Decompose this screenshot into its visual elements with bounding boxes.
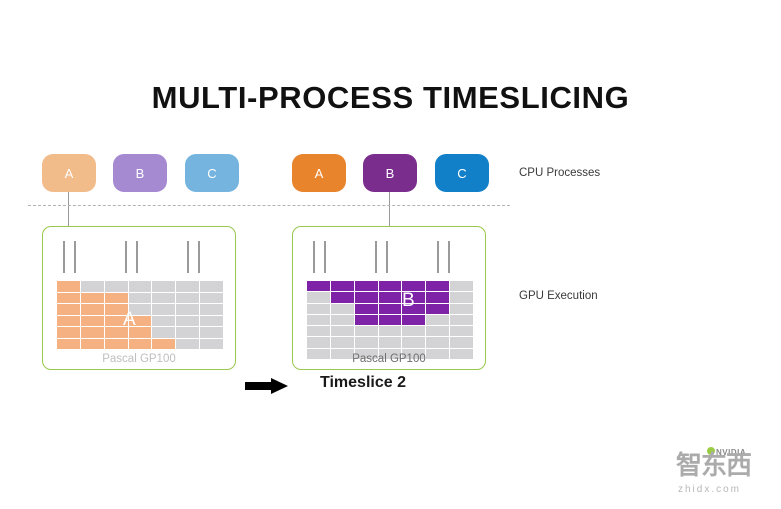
gpu-cell: [152, 304, 175, 315]
gpu-cell: [105, 327, 128, 338]
cpu-process-c-slice2[interactable]: C: [435, 154, 489, 192]
gpu-cell: [176, 327, 199, 338]
gpu-cell: [129, 293, 152, 304]
gpu-cell: [426, 304, 449, 314]
gpu-cell: [379, 326, 402, 336]
tick-mark: [136, 241, 138, 273]
tick-mark: [125, 241, 127, 273]
gpu-cell: [402, 304, 425, 314]
gpu-cell: [105, 304, 128, 315]
gpu-cell: [307, 304, 330, 314]
gpu-cell: [176, 304, 199, 315]
gpu-caption-right: Pascal GP100: [293, 353, 485, 365]
tick-mark: [198, 241, 200, 273]
gpu-cell: [379, 292, 402, 302]
gpu-cell: [402, 337, 425, 347]
section-divider: [28, 205, 510, 206]
cpu-process-label: A: [65, 166, 74, 181]
gpu-cell: [152, 316, 175, 327]
gpu-cell: [355, 326, 378, 336]
gpu-tick-marks-left: [43, 241, 235, 273]
gpu-cell: [379, 337, 402, 347]
gpu-cell: [450, 337, 473, 347]
gpu-cell: [402, 292, 425, 302]
gpu-cell: [331, 292, 354, 302]
gpu-cell: [81, 327, 104, 338]
gpu-cell: [402, 315, 425, 325]
gpu-cell: [57, 293, 80, 304]
gpu-cell: [426, 292, 449, 302]
gpu-cell: [450, 315, 473, 325]
gpu-cell: [426, 281, 449, 291]
gpu-cell: [307, 315, 330, 325]
gpu-cell: [200, 339, 223, 350]
gpu-cell: [152, 339, 175, 350]
tick-mark: [324, 241, 326, 273]
cpu-process-label: C: [207, 166, 216, 181]
slide-canvas: MULTI-PROCESS TIMESLICING A B C A B C A: [0, 0, 781, 509]
gpu-cell: [57, 316, 80, 327]
gpu-cell: [331, 304, 354, 314]
gpu-cell: [402, 281, 425, 291]
gpu-cell: [402, 326, 425, 336]
gpu-cell: [81, 339, 104, 350]
gpu-cell: [152, 327, 175, 338]
gpu-cell: [129, 281, 152, 292]
cpu-process-a-slice1[interactable]: A: [42, 154, 96, 192]
watermark-url: zhidx.com: [678, 484, 770, 495]
tick-mark: [63, 241, 65, 273]
gpu-cell: [450, 292, 473, 302]
gpu-cell: [129, 327, 152, 338]
cpu-process-a-slice2[interactable]: A: [292, 154, 346, 192]
gpu-cell: [307, 281, 330, 291]
gpu-caption-left: Pascal GP100: [43, 353, 235, 365]
cpu-process-label: A: [315, 166, 324, 181]
gpu-cell: [152, 281, 175, 292]
tick-mark: [313, 241, 315, 273]
gpu-cell: [176, 293, 199, 304]
gpu-cell: [105, 339, 128, 350]
gpu-sm-grid-right: [307, 281, 473, 359]
label-cpu-processes: CPU Processes: [519, 167, 600, 179]
gpu-cell: [426, 326, 449, 336]
tick-mark: [437, 241, 439, 273]
gpu-cell: [200, 316, 223, 327]
cpu-process-b-slice2[interactable]: B: [363, 154, 417, 192]
gpu-cell: [105, 281, 128, 292]
page-title: MULTI-PROCESS TIMESLICING: [0, 80, 781, 116]
gpu-cell: [379, 281, 402, 291]
gpu-cell: [200, 327, 223, 338]
gpu-cell: [105, 293, 128, 304]
gpu-cell: [200, 304, 223, 315]
gpu-cell: [426, 337, 449, 347]
gpu-cell: [307, 292, 330, 302]
cpu-process-b-slice1[interactable]: B: [113, 154, 167, 192]
gpu-cell: [81, 316, 104, 327]
gpu-cell: [129, 304, 152, 315]
gpu-cell: [355, 281, 378, 291]
gpu-cell: [152, 293, 175, 304]
gpu-cell: [355, 292, 378, 302]
gpu-cell: [200, 281, 223, 292]
gpu-cell: [105, 316, 128, 327]
gpu-cell: [57, 281, 80, 292]
watermark-cn-text: 智东西: [676, 452, 762, 478]
gpu-cell: [176, 281, 199, 292]
timeslice-arrow-icon: [245, 378, 289, 394]
label-gpu-execution: GPU Execution: [519, 290, 598, 302]
gpu-cell: [450, 304, 473, 314]
tick-mark: [375, 241, 377, 273]
gpu-cell: [81, 281, 104, 292]
tick-mark: [448, 241, 450, 273]
tick-mark: [187, 241, 189, 273]
gpu-tick-marks-right: [293, 241, 485, 273]
gpu-cell: [57, 339, 80, 350]
gpu-cell: [176, 339, 199, 350]
gpu-cell: [176, 316, 199, 327]
cpu-process-label: B: [136, 166, 145, 181]
watermark: NVIDIA 智东西 zhidx.com: [676, 444, 772, 502]
gpu-cell: [331, 315, 354, 325]
gpu-cell: [355, 337, 378, 347]
cpu-process-label: B: [386, 166, 395, 181]
gpu-cell: [331, 337, 354, 347]
gpu-panel-left: A Pascal GP100: [42, 226, 236, 370]
gpu-cell: [331, 281, 354, 291]
gpu-cell: [81, 293, 104, 304]
gpu-cell: [200, 293, 223, 304]
gpu-cell: [129, 339, 152, 350]
gpu-cell: [57, 327, 80, 338]
gpu-cell: [57, 304, 80, 315]
gpu-cell: [307, 337, 330, 347]
tick-mark: [386, 241, 388, 273]
gpu-cell: [450, 326, 473, 336]
gpu-cell: [307, 326, 330, 336]
gpu-cell: [81, 304, 104, 315]
cpu-process-c-slice1[interactable]: C: [185, 154, 239, 192]
gpu-cell: [379, 315, 402, 325]
gpu-cell: [379, 304, 402, 314]
cpu-process-label: C: [457, 166, 466, 181]
timeslice-label: Timeslice 2: [320, 374, 520, 392]
gpu-cell: [355, 315, 378, 325]
gpu-cell: [355, 304, 378, 314]
gpu-cell: [331, 326, 354, 336]
gpu-cell: [129, 316, 152, 327]
gpu-cell: [426, 315, 449, 325]
tick-mark: [74, 241, 76, 273]
gpu-cell: [450, 281, 473, 291]
gpu-panel-right: B Pascal GP100: [292, 226, 486, 370]
gpu-sm-grid-left: [57, 281, 223, 349]
